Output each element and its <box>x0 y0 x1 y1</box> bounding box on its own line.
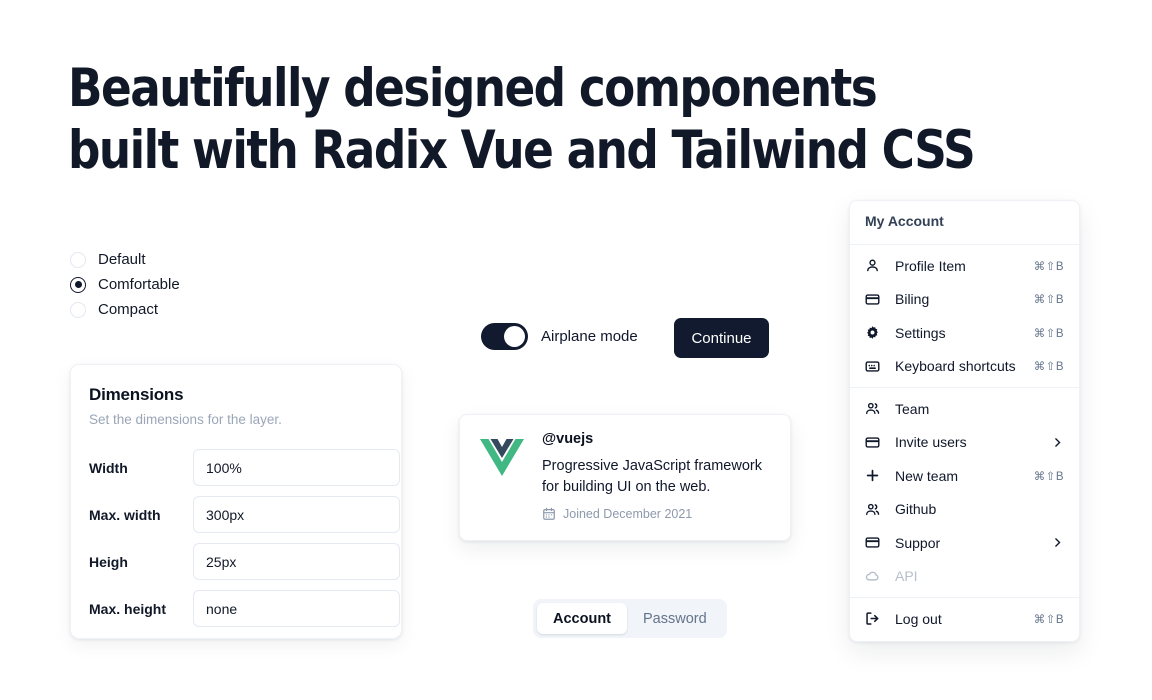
radio-label: Default <box>98 251 146 268</box>
radio-label: Compact <box>98 301 158 318</box>
account-dropdown-menu: My Account Profile Item ⌘⇧B Biling ⌘⇧B <box>849 200 1080 642</box>
menu-item-label: Github <box>895 501 1064 517</box>
page-title: Beautifully designed components built wi… <box>68 58 980 182</box>
menu-item-label: Keyboard shortcuts <box>895 358 1034 374</box>
tab-account[interactable]: Account <box>537 603 627 634</box>
plus-icon <box>865 468 883 483</box>
max-width-input[interactable] <box>193 496 400 533</box>
switch-knob <box>504 326 525 347</box>
hover-card-joined: Joined December 2021 <box>542 507 782 521</box>
menu-separator <box>850 597 1079 598</box>
credit-card-icon <box>865 535 883 550</box>
hero-section: Beautifully designed components built wi… <box>68 58 1028 182</box>
menu-item-shortcut: ⌘⇧B <box>1034 259 1064 273</box>
credit-card-icon <box>865 292 883 307</box>
hover-card-description: Progressive JavaScript framework for bui… <box>542 456 782 498</box>
dimensions-card: Dimensions Set the dimensions for the la… <box>70 364 402 639</box>
menu-separator <box>850 244 1079 245</box>
radio-option-default[interactable]: Default <box>70 247 180 272</box>
airplane-mode-row: Airplane mode <box>481 323 638 350</box>
logout-icon <box>865 611 883 626</box>
chevron-right-icon <box>1051 436 1064 449</box>
menu-separator <box>850 387 1079 388</box>
menu-item-label: Log out <box>895 611 1034 627</box>
menu-item-shortcut: ⌘⇧B <box>1034 292 1064 306</box>
max-height-input[interactable] <box>193 590 400 627</box>
radio-indicator[interactable] <box>70 302 86 318</box>
tab-password[interactable]: Password <box>627 603 723 634</box>
menu-item-label: API <box>895 568 1064 584</box>
menu-item-label: Team <box>895 401 1064 417</box>
dimensions-fields: Width Max. width Heigh Max. height <box>89 449 383 627</box>
users-icon <box>865 502 883 517</box>
card-title: Dimensions <box>89 385 383 405</box>
field-row: Max. width <box>89 496 383 533</box>
menu-item-shortcut: ⌘⇧B <box>1034 469 1064 483</box>
menu-item-billing[interactable]: Biling ⌘⇧B <box>850 283 1079 317</box>
radio-indicator[interactable] <box>70 252 86 268</box>
menu-item-label: New team <box>895 468 1034 484</box>
menu-item-label: Biling <box>895 291 1034 307</box>
menu-item-new-team[interactable]: New team ⌘⇧B <box>850 459 1079 493</box>
max-height-label: Max. height <box>89 601 193 617</box>
keyboard-icon <box>865 359 883 374</box>
width-label: Width <box>89 460 193 476</box>
page-root: Beautifully designed components built wi… <box>0 0 1152 700</box>
users-icon <box>865 401 883 416</box>
height-label: Heigh <box>89 554 193 570</box>
calendar-icon <box>542 507 556 521</box>
menu-item-team[interactable]: Team <box>850 392 1079 426</box>
width-input[interactable] <box>193 449 400 486</box>
gear-icon <box>865 325 883 340</box>
menu-item-invite-users[interactable]: Invite users <box>850 426 1079 460</box>
menu-item-shortcut: ⌘⇧B <box>1034 326 1064 340</box>
menu-item-api: API <box>850 560 1079 594</box>
cloud-icon <box>865 569 883 584</box>
radio-option-comfortable[interactable]: Comfortable <box>70 272 180 297</box>
hover-card-handle: @vuejs <box>542 431 782 447</box>
menu-item-keyboard-shortcuts[interactable]: Keyboard shortcuts ⌘⇧B <box>850 350 1079 384</box>
radio-group: Default Comfortable Compact <box>70 247 180 322</box>
continue-button[interactable]: Continue <box>674 318 769 358</box>
tabs-list: Account Password <box>533 599 727 638</box>
credit-card-icon <box>865 435 883 450</box>
field-row: Width <box>89 449 383 486</box>
menu-item-profile[interactable]: Profile Item ⌘⇧B <box>850 249 1079 283</box>
hover-card: @vuejs Progressive JavaScript framework … <box>459 414 791 541</box>
menu-item-support[interactable]: Suppor <box>850 526 1079 560</box>
menu-item-label: Profile Item <box>895 258 1034 274</box>
switch-label: Airplane mode <box>541 328 638 345</box>
chevron-right-icon <box>1051 536 1064 549</box>
radio-label: Comfortable <box>98 276 180 293</box>
card-description: Set the dimensions for the layer. <box>89 412 383 427</box>
menu-item-shortcut: ⌘⇧B <box>1034 359 1064 373</box>
max-width-label: Max. width <box>89 507 193 523</box>
menu-item-label: Invite users <box>895 434 1051 450</box>
radio-option-compact[interactable]: Compact <box>70 297 180 322</box>
field-row: Max. height <box>89 590 383 627</box>
hover-card-body: @vuejs Progressive JavaScript framework … <box>542 431 782 540</box>
menu-item-log-out[interactable]: Log out ⌘⇧B <box>850 602 1079 636</box>
menu-item-label: Settings <box>895 325 1034 341</box>
radio-indicator-checked[interactable] <box>70 277 86 293</box>
vue-logo-icon <box>480 431 524 540</box>
menu-item-label: Suppor <box>895 535 1051 551</box>
menu-header-label: My Account <box>850 201 1079 240</box>
menu-item-settings[interactable]: Settings ⌘⇧B <box>850 316 1079 350</box>
joined-text: Joined December 2021 <box>563 507 692 521</box>
height-input[interactable] <box>193 543 400 580</box>
field-row: Heigh <box>89 543 383 580</box>
menu-item-shortcut: ⌘⇧B <box>1034 612 1064 626</box>
user-icon <box>865 258 883 273</box>
airplane-mode-switch[interactable] <box>481 323 528 350</box>
menu-item-github[interactable]: Github <box>850 493 1079 527</box>
